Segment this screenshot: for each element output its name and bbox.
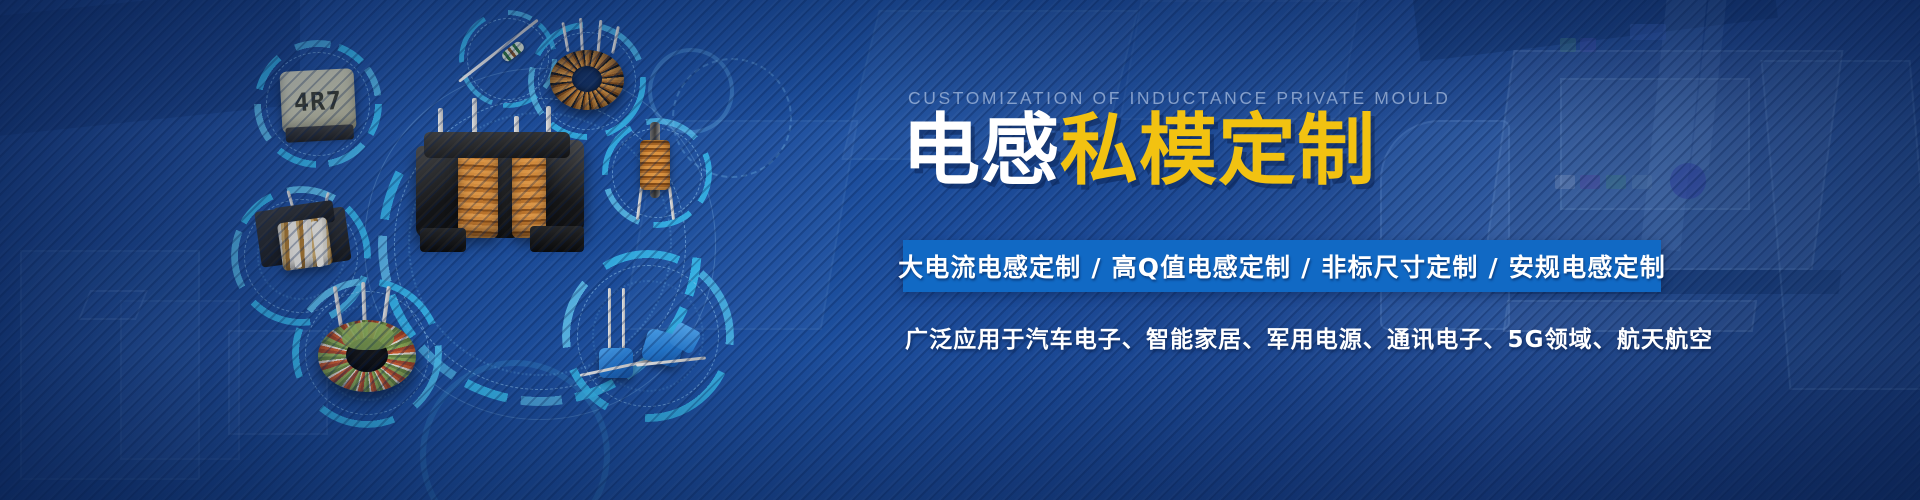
faint-ring-b xyxy=(672,58,792,178)
smd-chip-label: 4R7 xyxy=(279,68,356,134)
green-toroid-inductor xyxy=(312,292,422,398)
rod-core-inductor xyxy=(628,126,688,222)
page-title: 电感私模定制 xyxy=(902,112,1376,192)
hero-banner: 4R7 xyxy=(0,0,1920,500)
service-list-bar[interactable]: 大电流电感定制 / 高Q值电感定制 / 非标尺寸定制 / 安规电感定制 xyxy=(903,240,1661,292)
flat-wire-common-mode-choke xyxy=(248,196,356,296)
axial-resistor xyxy=(473,18,553,98)
headline-gold-part: 私模定制 xyxy=(1060,106,1376,196)
service-list-text: 大电流电感定制 / 高Q值电感定制 / 非标尺寸定制 / 安规电感定制 xyxy=(898,248,1666,284)
blue-radial-inductor xyxy=(588,290,718,400)
smd-power-inductor: 4R7 xyxy=(281,70,355,132)
large-common-mode-choke xyxy=(410,110,590,275)
headline-white-part: 电感 xyxy=(902,106,1060,196)
application-tagline: 广泛应用于汽车电子、智能家居、军用电源、通讯电子、5G领域、航天航空 xyxy=(905,320,1713,354)
